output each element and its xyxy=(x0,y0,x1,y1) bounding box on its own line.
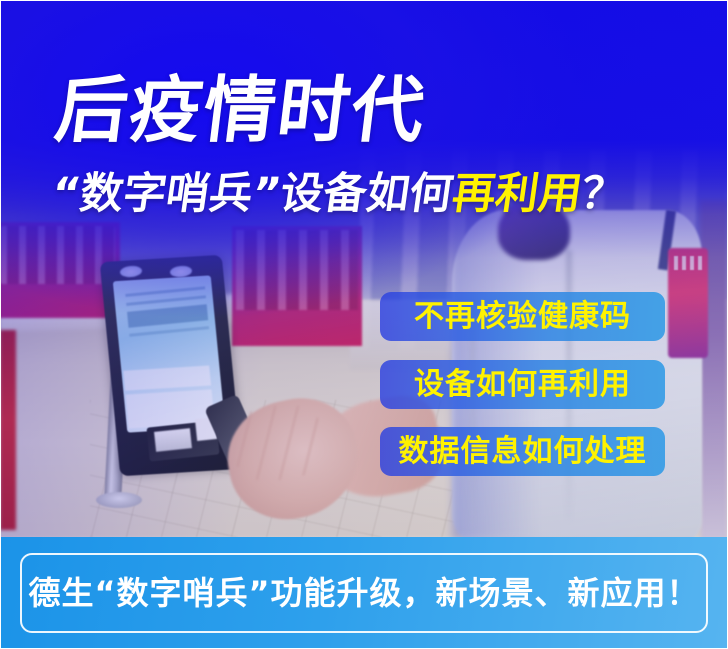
feature-pill-2[interactable]: 设备如何再利用 xyxy=(380,360,665,409)
red-edge-strip xyxy=(0,330,16,530)
bottom-banner-text: 德生“数字哨兵”功能升级，新场景、新应用！ xyxy=(28,577,699,609)
bottom-banner: 德生“数字哨兵”功能升级，新场景、新应用！ xyxy=(0,537,728,649)
feature-pill-2-label: 设备如何再利用 xyxy=(414,370,631,400)
kiosk-label-sticker xyxy=(154,428,192,452)
headline-sub-suffix: ？ xyxy=(578,169,628,219)
headline-sub: “数字哨兵”设备如何再利用？ xyxy=(49,173,628,216)
kiosk-stand-base xyxy=(96,492,142,508)
id-badge-text-lines xyxy=(674,256,702,270)
headline-main: 后疫情时代 xyxy=(52,74,431,146)
poster-canvas: 后疫情时代 “数字哨兵”设备如何再利用？ 不再核验健康码 设备如何再利用 数据信… xyxy=(0,0,728,649)
feature-pill-1-label: 不再核验健康码 xyxy=(414,302,631,332)
headline-sub-highlight: 再利用 xyxy=(449,169,585,219)
feature-pill-3[interactable]: 数据信息如何处理 xyxy=(380,427,665,476)
bottom-banner-frame: 德生“数字哨兵”功能升级，新场景、新应用！ xyxy=(20,553,708,633)
pink-barrier-slats-center xyxy=(236,230,358,310)
headline-sub-prefix: “数字哨兵”设备如何 xyxy=(49,169,457,219)
feature-pill-3-label: 数据信息如何处理 xyxy=(399,437,647,467)
hero-photo: 后疫情时代 “数字哨兵”设备如何再利用？ 不再核验健康码 设备如何再利用 数据信… xyxy=(0,0,728,537)
feature-pill-1[interactable]: 不再核验健康码 xyxy=(380,292,665,341)
kiosk-screen-content-lines xyxy=(125,286,210,353)
pink-barrier-slats-left xyxy=(0,226,115,284)
